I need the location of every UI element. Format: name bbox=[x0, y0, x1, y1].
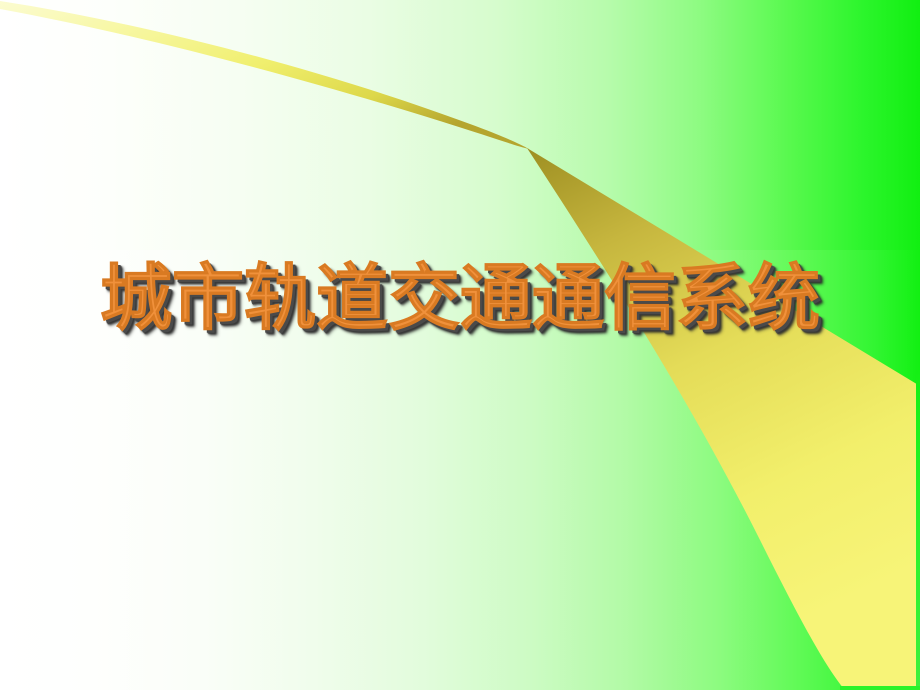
green-edge-strip-bottom bbox=[840, 686, 920, 690]
green-edge-strip-right bbox=[916, 370, 920, 690]
presentation-slide: 城市轨道交通通信系统 bbox=[0, 0, 920, 690]
slide-background-graphic bbox=[0, 0, 920, 690]
